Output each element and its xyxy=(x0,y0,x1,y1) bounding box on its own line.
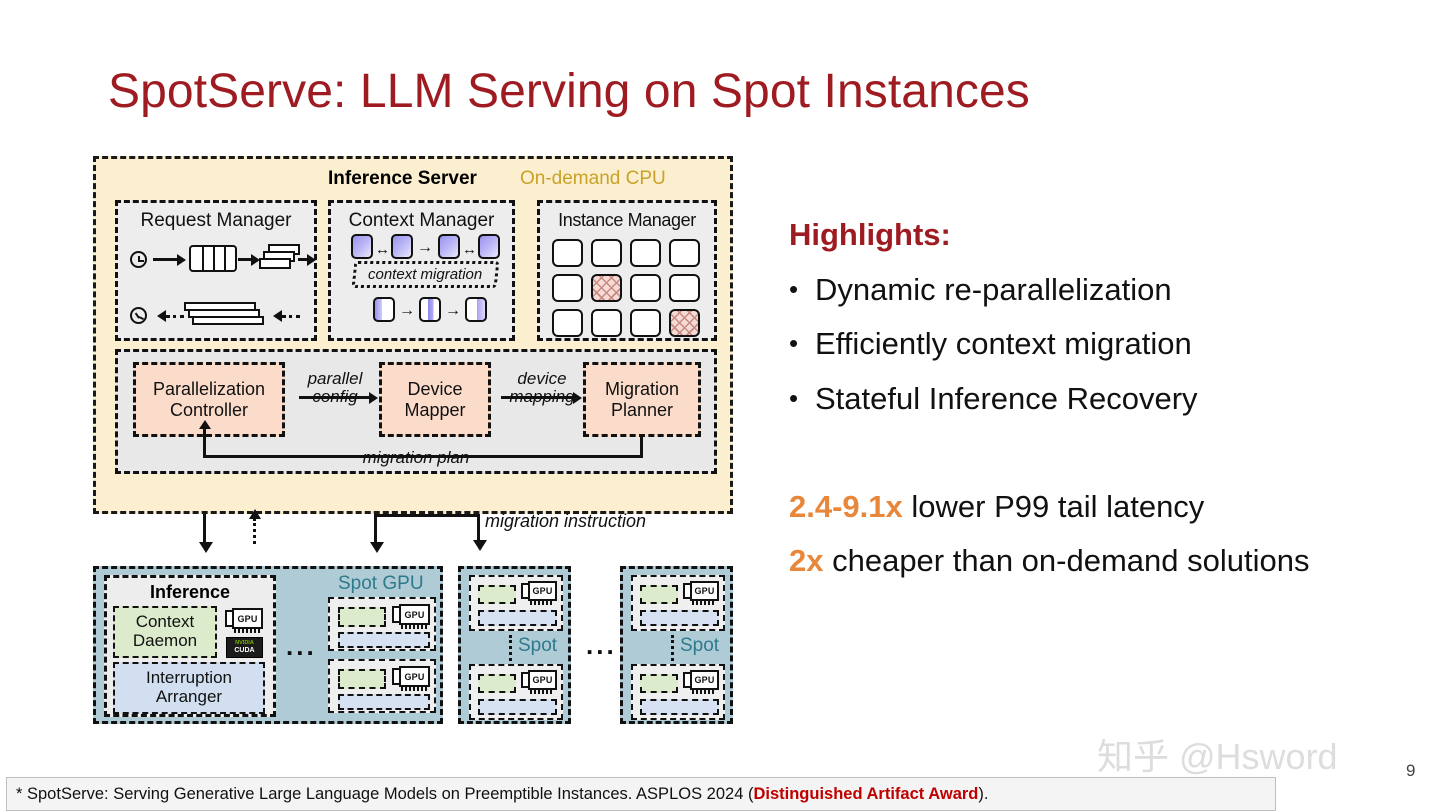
instance-cell xyxy=(552,274,583,302)
bidirectional-arrow-icon: ↔ xyxy=(375,242,390,257)
parallel-config-arrow-line xyxy=(299,396,371,399)
gpu-card-label: GPU xyxy=(690,581,719,601)
gpu-card-icon: GPU xyxy=(392,604,430,629)
inference-title: Inference xyxy=(107,582,273,603)
gpu-node: GPU xyxy=(631,575,725,631)
parallel-config-arrow-head xyxy=(369,392,378,404)
context-partial-block xyxy=(419,297,441,322)
instance-cell xyxy=(630,239,661,267)
gpu-node-memory-slot xyxy=(640,610,719,626)
return-arrow-head xyxy=(157,310,166,322)
highlight-bullet-3: •Stateful Inference Recovery xyxy=(789,381,1198,417)
gpu-card-label: GPU xyxy=(399,666,430,687)
highlight-bullet-3-text: Stateful Inference Recovery xyxy=(815,381,1198,416)
spot-divider xyxy=(671,635,674,661)
gpu-card-label: GPU xyxy=(528,581,557,601)
gpu-node: GPU xyxy=(469,575,563,631)
spot-divider xyxy=(509,635,512,661)
stat-latency-text: lower P99 tail latency xyxy=(903,489,1205,524)
instance-cell xyxy=(591,309,622,337)
interruption-arranger-line2: Arranger xyxy=(156,687,222,706)
highlight-bullet-2: •Efficiently context migration xyxy=(789,326,1192,362)
context-migration-label: context migration xyxy=(368,266,482,283)
gpu-node-memory-slot xyxy=(338,694,430,710)
context-manager-box: Context Manager ↔ → ↔ context migration … xyxy=(328,200,515,341)
footnote-prefix: * SpotServe: Serving Generative Large La… xyxy=(16,785,753,804)
spot-node-b: GPU Spot GPU xyxy=(620,566,733,724)
bidirectional-arrow-icon: ↔ xyxy=(462,242,477,257)
spot-gpu-label: Spot GPU xyxy=(338,573,424,595)
context-block xyxy=(438,234,460,259)
gpu-card-icon: GPU xyxy=(683,670,719,694)
gpu-node: GPU xyxy=(469,664,563,720)
instance-cell xyxy=(630,274,661,302)
spot-node-a: GPU Spot GPU xyxy=(458,566,571,724)
gpu-card-icon: GPU xyxy=(683,581,719,605)
instance-cell xyxy=(552,239,583,267)
request-queue-icon xyxy=(189,245,237,272)
instance-cell-preempted xyxy=(669,309,700,337)
spot-label-b: Spot xyxy=(680,635,719,657)
context-migration-pill: context migration xyxy=(352,261,500,288)
gpu-node-context-slot xyxy=(640,674,678,693)
gpu-node-memory-slot xyxy=(640,699,719,715)
inference-inner-box: Inference Context Daemon GPU NVIDIA CUDA xyxy=(104,575,276,717)
gpu-node-context-slot xyxy=(478,674,516,693)
stat-cost: 2x cheaper than on-demand solutions xyxy=(789,543,1309,579)
cuda-label: CUDA xyxy=(234,647,254,654)
migration-plan-label: migration plan xyxy=(118,448,714,468)
instance-cell xyxy=(669,274,700,302)
request-manager-box: Request Manager xyxy=(115,200,317,341)
flow-arrow-head xyxy=(307,254,316,266)
interruption-arranger-box: Interruption Arranger xyxy=(113,662,265,714)
instance-cell xyxy=(591,239,622,267)
footnote-award: Distinguished Artifact Award xyxy=(753,785,978,804)
gpu-node-context-slot xyxy=(640,585,678,604)
flow-arrow-head xyxy=(177,254,186,266)
gpu-card-icon: GPU xyxy=(225,608,263,633)
device-mapping-arrow-line xyxy=(501,396,575,399)
gpu-card-icon: GPU xyxy=(521,581,557,605)
request-manager-title: Request Manager xyxy=(118,210,314,232)
ellipsis-outer: ... xyxy=(586,632,617,658)
stat-latency-accent: 2.4-9.1x xyxy=(789,489,903,524)
highlight-bullet-2-text: Efficiently context migration xyxy=(815,326,1192,361)
gpu-card-icon: GPU xyxy=(392,666,430,691)
flow-arrow-line xyxy=(238,258,252,261)
context-block xyxy=(391,234,413,259)
context-daemon-line2: Daemon xyxy=(133,631,197,650)
on-demand-cpu-label: On-demand CPU xyxy=(520,168,666,190)
device-mapper-line1: Device xyxy=(407,379,462,399)
architecture-diagram: Inference Server On-demand CPU Request M… xyxy=(93,156,733,724)
ellipsis-inner: ... xyxy=(286,633,317,659)
context-block xyxy=(351,234,373,259)
bullet-icon: • xyxy=(789,274,815,305)
context-daemon-line1: Context xyxy=(136,612,195,631)
context-daemon-box: Context Daemon xyxy=(113,606,217,658)
instance-cell-preempted xyxy=(591,274,622,302)
instance-cell xyxy=(630,309,661,337)
return-dotted-line xyxy=(166,315,184,318)
page-title: SpotServe: LLM Serving on Spot Instances xyxy=(108,64,1030,119)
stat-cost-accent: 2x xyxy=(789,543,823,578)
gpu-card-label: GPU xyxy=(528,670,557,690)
parallel-config-line1: parallel xyxy=(308,369,363,388)
parallelization-controller-line2: Controller xyxy=(170,400,248,420)
nvidia-cuda-badge: NVIDIA CUDA xyxy=(226,637,263,658)
context-block xyxy=(478,234,500,259)
highlights-heading: Highlights: xyxy=(789,217,951,253)
gpu-card-label: GPU xyxy=(690,670,719,690)
migration-planner-box: Migration Planner xyxy=(583,362,701,437)
gpu-card-icon: GPU xyxy=(521,670,557,694)
bullet-icon: • xyxy=(789,383,815,414)
migration-instruction-label: migration instruction xyxy=(485,511,646,532)
footnote-suffix: ). xyxy=(978,785,988,804)
right-arrow-icon: → xyxy=(399,303,415,319)
device-mapper-line2: Mapper xyxy=(404,400,465,420)
device-mapper-box: Device Mapper xyxy=(379,362,491,437)
migration-planner-line1: Migration xyxy=(605,379,679,399)
gpu-node-context-slot xyxy=(338,607,386,627)
footnote-bar: * SpotServe: Serving Generative Large La… xyxy=(6,777,1276,811)
right-arrow-icon: → xyxy=(417,240,433,256)
bullet-icon: • xyxy=(789,328,815,359)
batch-sheet-icon xyxy=(259,258,291,269)
return-dotted-line xyxy=(282,315,300,318)
watermark: 知乎 @Hsword xyxy=(1097,728,1338,780)
context-partial-block xyxy=(373,297,395,322)
parallel-config-edge-label: parallel config xyxy=(296,370,374,406)
inference-spot-node: Inference Context Daemon GPU NVIDIA CUDA xyxy=(93,566,443,724)
gpu-node: GPU xyxy=(328,597,436,651)
instance-cell xyxy=(669,239,700,267)
instance-manager-title: Instance Manager xyxy=(540,210,714,231)
device-mapping-edge-label: device mapping xyxy=(502,370,582,406)
gpu-node-context-slot xyxy=(478,585,516,604)
right-arrow-icon: → xyxy=(445,303,461,319)
migration-instruction-horizontal xyxy=(374,514,480,517)
latency-clock-icon xyxy=(130,307,147,324)
gpu-card-label: GPU xyxy=(399,604,430,625)
context-manager-title: Context Manager xyxy=(331,210,512,232)
inference-to-server-arrow-head xyxy=(249,509,261,519)
parallelization-controller-line1: Parallelization xyxy=(153,379,265,399)
instance-grid xyxy=(552,239,700,337)
highlight-bullet-1: •Dynamic re-parallelization xyxy=(789,272,1172,308)
planner-strip: Parallelization Controller parallel conf… xyxy=(115,349,717,474)
flow-arrow-line xyxy=(153,258,178,261)
spot-instances-row: Inference Context Daemon GPU NVIDIA CUDA xyxy=(93,534,733,724)
page-number: 9 xyxy=(1406,761,1415,781)
inference-server-panel: Inference Server On-demand CPU Request M… xyxy=(93,156,733,514)
gpu-node: GPU xyxy=(328,659,436,713)
inference-server-title: Inference Server xyxy=(328,168,477,190)
stat-latency: 2.4-9.1x lower P99 tail latency xyxy=(789,489,1204,525)
feedback-arrow-head xyxy=(199,420,211,429)
gpu-node-context-slot xyxy=(338,669,386,689)
return-arrow-head xyxy=(273,310,282,322)
gpu-node-memory-slot xyxy=(478,610,557,626)
device-mapping-line1: device xyxy=(517,369,566,388)
context-partial-block xyxy=(465,297,487,322)
instance-manager-box: Instance Manager xyxy=(537,200,717,341)
gpu-card-label: GPU xyxy=(232,608,263,629)
clock-icon xyxy=(130,251,147,268)
gpu-node: GPU xyxy=(631,664,725,720)
spot-label-a: Spot xyxy=(518,635,557,657)
device-mapping-arrow-head xyxy=(573,392,582,404)
highlight-bullet-1-text: Dynamic re-parallelization xyxy=(815,272,1172,307)
gpu-node-memory-slot xyxy=(478,699,557,715)
migration-planner-line2: Planner xyxy=(611,400,673,420)
gpu-node-memory-slot xyxy=(338,632,430,648)
instance-cell xyxy=(552,309,583,337)
stat-cost-text: cheaper than on-demand solutions xyxy=(823,543,1309,578)
response-sheet-icon xyxy=(192,316,264,325)
interruption-arranger-line1: Interruption xyxy=(146,668,232,687)
